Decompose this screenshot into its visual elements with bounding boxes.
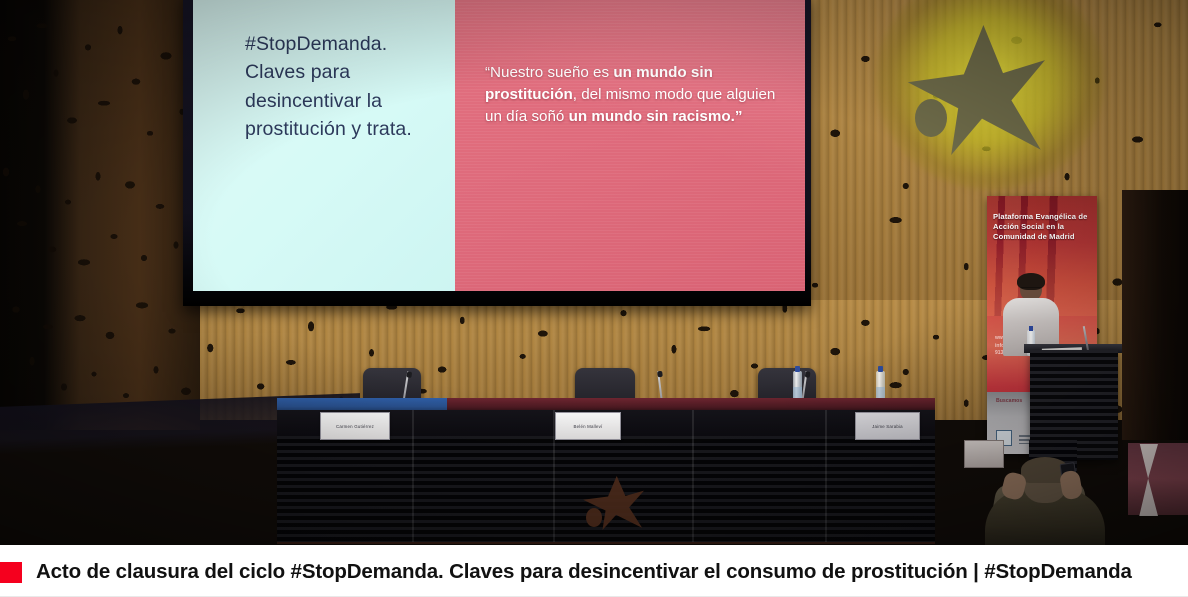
panel-chair [575, 368, 635, 402]
bottle-label [876, 387, 885, 398]
audience-member-filming [985, 455, 1105, 545]
slide-right-panel: “Nuestro sueño es un mundo sin prostituc… [455, 0, 805, 291]
name-placard: Jaime Sarabia [855, 412, 920, 440]
banner-title-text: Plataforma Evangélica de Acción Social e… [993, 212, 1093, 242]
quote-text: “Nuestro sueño es [485, 64, 613, 81]
table-seam [692, 410, 694, 542]
left-wall-pillar [0, 0, 200, 430]
star-dot-small [933, 78, 953, 98]
star-dot-large [586, 508, 602, 527]
slide-title-text: #StopDemanda. Claves para desincentivar … [245, 30, 450, 144]
video-canvas[interactable]: #StopDemanda. Claves para desincentivar … [0, 0, 1188, 545]
pillar-perforation-pattern [0, 0, 200, 430]
right-poster [1128, 443, 1188, 515]
bottle-label [793, 387, 802, 398]
name-placard: Belén Malleví [555, 412, 621, 440]
red-square-marker-icon [0, 562, 22, 583]
star-dot-large [915, 99, 947, 137]
microphone-head [657, 371, 663, 378]
quote-emphasis: un mundo sin racismo.” [569, 108, 743, 125]
name-placard: Carmen Gutiérrez [320, 412, 390, 440]
table-caixabank-star-icon [582, 476, 644, 530]
caption-title: Acto de clausura del ciclo #StopDemanda.… [36, 560, 1132, 584]
right-dark-panel [1122, 190, 1188, 440]
table-seam [825, 410, 827, 542]
caixabank-star-icon [905, 25, 1045, 155]
table-seam [412, 410, 414, 542]
speaker-glasses [1021, 287, 1041, 293]
slide-left-panel: #StopDemanda. Claves para desincentivar … [193, 0, 455, 291]
panel-chair [363, 368, 421, 402]
caption-bar: Acto de clausura del ciclo #StopDemanda.… [0, 545, 1188, 597]
projection-screen: #StopDemanda. Claves para desincentivar … [193, 0, 805, 291]
video-frame: #StopDemanda. Claves para desincentivar … [0, 0, 1188, 597]
banner-footer-text: Buscamos [996, 398, 1022, 404]
slide-quote-text: “Nuestro sueño es un mundo sin prostituc… [485, 62, 785, 128]
panel-table: Carmen Gutiérrez Belén Malleví Jaime Sar… [277, 398, 935, 545]
